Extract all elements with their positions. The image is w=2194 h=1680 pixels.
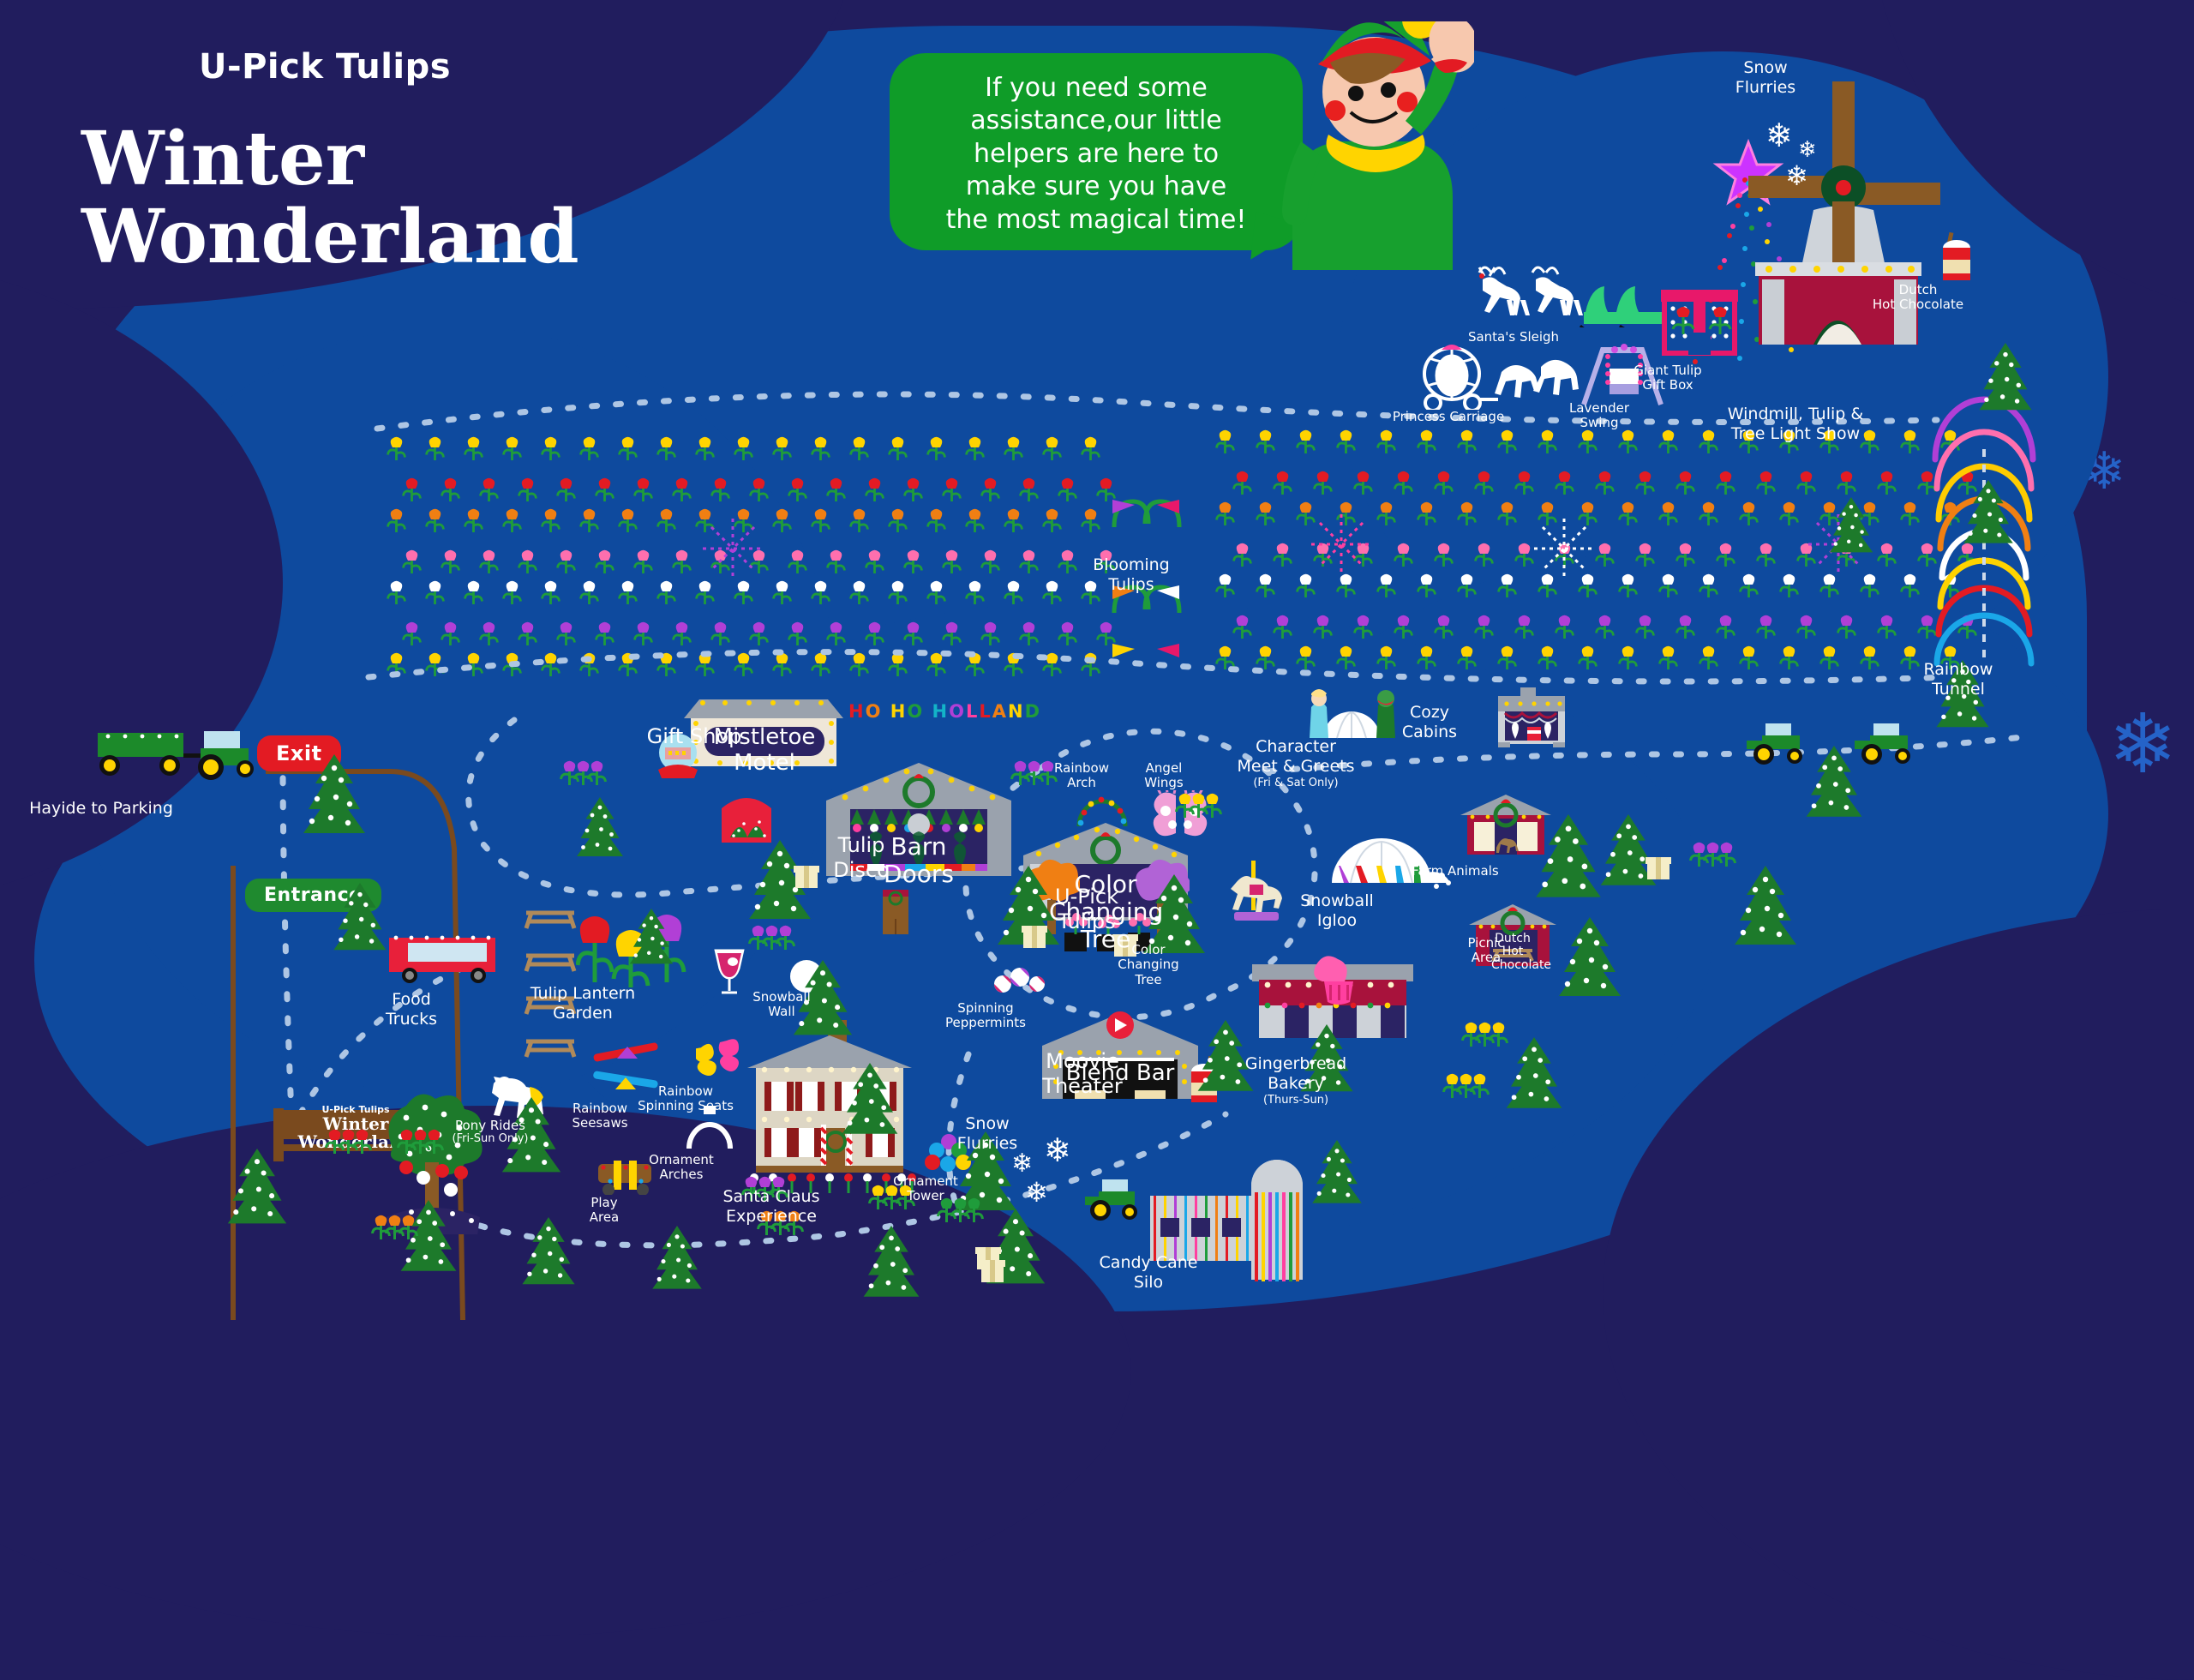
tulip-cluster-icon bbox=[1177, 794, 1221, 818]
tulip-cluster-icon bbox=[373, 1215, 417, 1239]
upick-tulips-sign-text: Color Changing Tree bbox=[1049, 871, 1162, 954]
label-tulip-lantern-garden: Tulip Lantern Garden bbox=[506, 984, 660, 1023]
tulip-cluster-icon bbox=[327, 1130, 371, 1154]
label-candy-cane-silo: Candy Cane Silo bbox=[1071, 1253, 1226, 1293]
label-princess-carriage: Princess Carriage bbox=[1371, 410, 1526, 424]
label-farm-animals: Farm Animals bbox=[1378, 864, 1532, 879]
label-snowball-igloo: Snowball Igloo bbox=[1260, 891, 1414, 931]
map-canvas: ❄ ❄ ❄ ❄ ❄ ❄ ❄ ❄ ❄ ❄ ❄ ❄ ❄ U-Pick Tulips … bbox=[0, 0, 2194, 1396]
label-santas-sleigh: Santa's Sleigh bbox=[1436, 330, 1591, 345]
label-dutch-hot-choc-top: Dutch Hot Chocolate bbox=[1841, 283, 1995, 313]
label-blooming-tulips: Blooming Tulips bbox=[1054, 555, 1208, 595]
label-spinning-peppermints: Spinning Peppermints bbox=[908, 1001, 1063, 1031]
tulip-cluster-icon bbox=[1691, 843, 1735, 867]
label-rainbow-spinning: Rainbow Spinning Seats bbox=[608, 1084, 763, 1114]
tulip-cluster-icon bbox=[750, 926, 794, 950]
label-food-trucks: Food Trucks bbox=[334, 990, 489, 1029]
gift-shop-sign-text: Mistletoe Motel bbox=[704, 724, 824, 776]
label-cozy-cabins: Cozy Cabins bbox=[1352, 703, 1507, 742]
label-play-area: Play Area bbox=[527, 1196, 681, 1226]
label-santa-claus-exp: Santa Claus Experience bbox=[694, 1187, 848, 1227]
label-windmill-light-show: Windmill, Tulip & Tree Light Show bbox=[1718, 405, 1873, 444]
label-gingerbread-bakery-sublabel: (Thurs-Sun) bbox=[1219, 1094, 1373, 1107]
label-giant-tulip-gift-box: Giant Tulip Gift Box bbox=[1591, 363, 1745, 393]
label-character-meet-greets: Character Meet & Greets(Fri & Sat Only) bbox=[1219, 737, 1373, 789]
hoho-holland-banner: HO HO HOLLAND bbox=[848, 701, 1041, 722]
moovie-theater-sign-text: Blend Bar bbox=[1063, 1061, 1178, 1087]
label-angel-wings: Angel Wings bbox=[1087, 761, 1241, 791]
label-hayride-to-parking: Hayide to Parking bbox=[24, 799, 178, 819]
label-snow-flurries-top: Snow Flurries bbox=[1688, 58, 1843, 98]
label-character-meet-greets-sublabel: (Fri & Sat Only) bbox=[1219, 777, 1373, 790]
label-snow-flurries-bot: Snow Flurries bbox=[910, 1114, 1064, 1154]
label-ornament-arches: Ornament Arches bbox=[604, 1153, 758, 1183]
tulip-cluster-icon bbox=[1444, 1074, 1489, 1098]
tulip-disco-sign-text: Barn Doors bbox=[861, 833, 976, 888]
tulip-cluster-layer bbox=[0, 0, 2194, 1396]
label-snowball-wall: Snowball Wall bbox=[704, 990, 859, 1020]
label-gingerbread-bakery: Gingerbread Bakery(Thurs-Sun) bbox=[1219, 1054, 1373, 1107]
tulip-cluster-icon bbox=[561, 761, 606, 785]
label-ornament-tower: Ornament Tower bbox=[848, 1174, 1003, 1204]
label-rainbow-tunnel: Rainbow Tunnel bbox=[1881, 660, 2035, 699]
label-pony-rides-sublabel: (Fri-Sun Only) bbox=[413, 1133, 567, 1146]
tulip-cluster-icon bbox=[1463, 1023, 1508, 1047]
picnic-area-sign-text: Dutch Hot Chocolate bbox=[1491, 933, 1534, 972]
label-lavender-swing: Lavender Swing bbox=[1522, 401, 1676, 431]
